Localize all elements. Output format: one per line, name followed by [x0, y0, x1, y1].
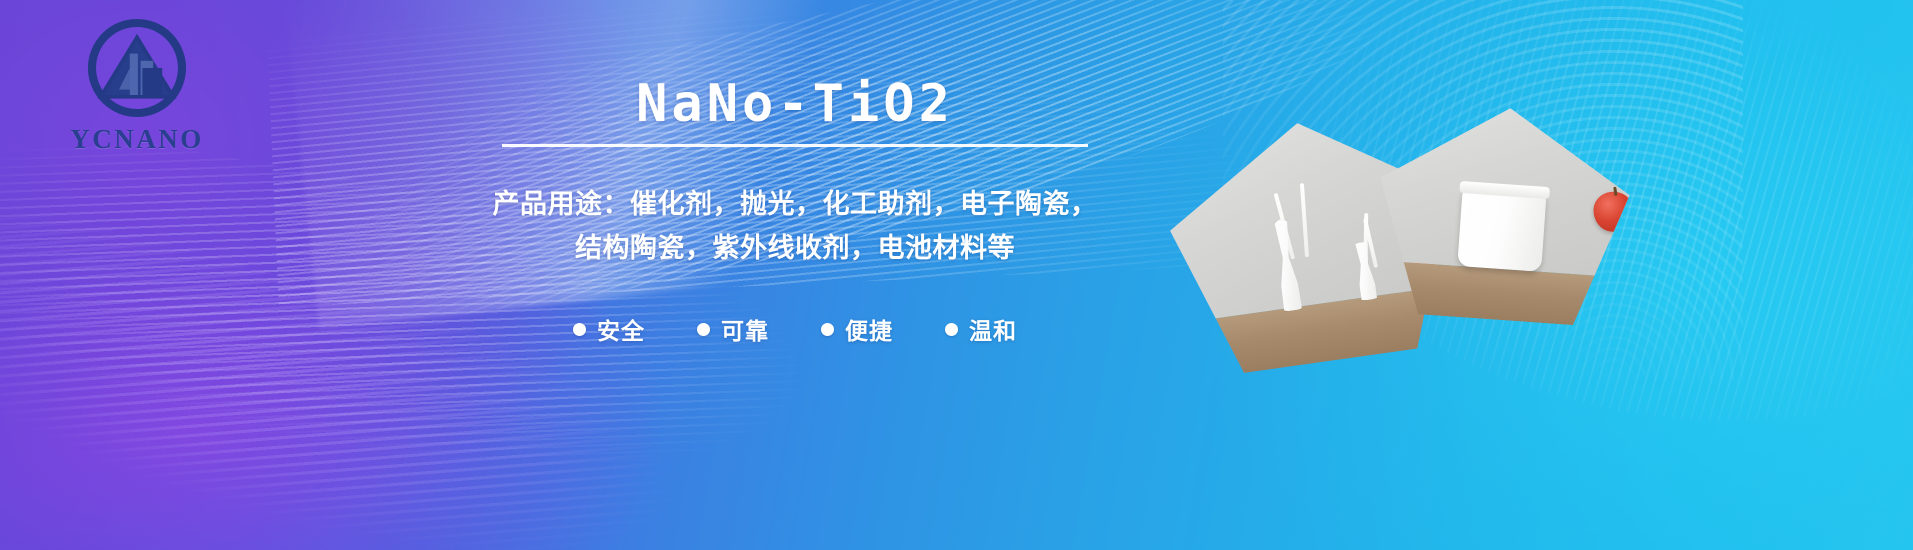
brand-name-text: YCNANO [70, 124, 204, 155]
feature-label: 便捷 [845, 312, 893, 346]
feature-label: 可靠 [721, 312, 769, 346]
ycnano-triangle-building-logo-icon [83, 14, 191, 122]
description-line-2: 结构陶瓷，紫外线收剂，电池材料等 [475, 227, 1115, 271]
dot-icon [697, 323, 710, 336]
feature-item-reliable: 可靠 [697, 312, 769, 346]
dot-icon [573, 323, 586, 336]
feature-label: 温和 [969, 312, 1017, 346]
white-paint-jar [1457, 188, 1546, 272]
dot-icon [821, 323, 834, 336]
brand-logo[interactable]: YCNANO [52, 14, 222, 164]
description-line-1: 产品用途：催化剂，抛光，化工助剂，电子陶瓷， [475, 183, 1115, 227]
product-hero-banner: YCNANO NaNo-TiO2 产品用途：催化剂，抛光，化工助剂，电子陶瓷， … [0, 0, 1913, 550]
feature-list: 安全 可靠 便捷 温和 [485, 312, 1105, 346]
hero-content: NaNo-TiO2 产品用途：催化剂，抛光，化工助剂，电子陶瓷， 结构陶瓷，紫外… [470, 0, 1120, 550]
feature-label: 安全 [597, 312, 645, 346]
feature-item-convenient: 便捷 [821, 312, 893, 346]
dot-icon [945, 323, 958, 336]
feature-item-mild: 温和 [945, 312, 1017, 346]
title-divider [502, 144, 1088, 147]
feature-item-safe: 安全 [573, 312, 645, 346]
product-usage-description: 产品用途：催化剂，抛光，化工助剂，电子陶瓷， 结构陶瓷，紫外线收剂，电池材料等 [475, 183, 1115, 270]
page-title: NaNo-TiO2 [636, 78, 954, 130]
product-photo-group [1153, 0, 1913, 550]
